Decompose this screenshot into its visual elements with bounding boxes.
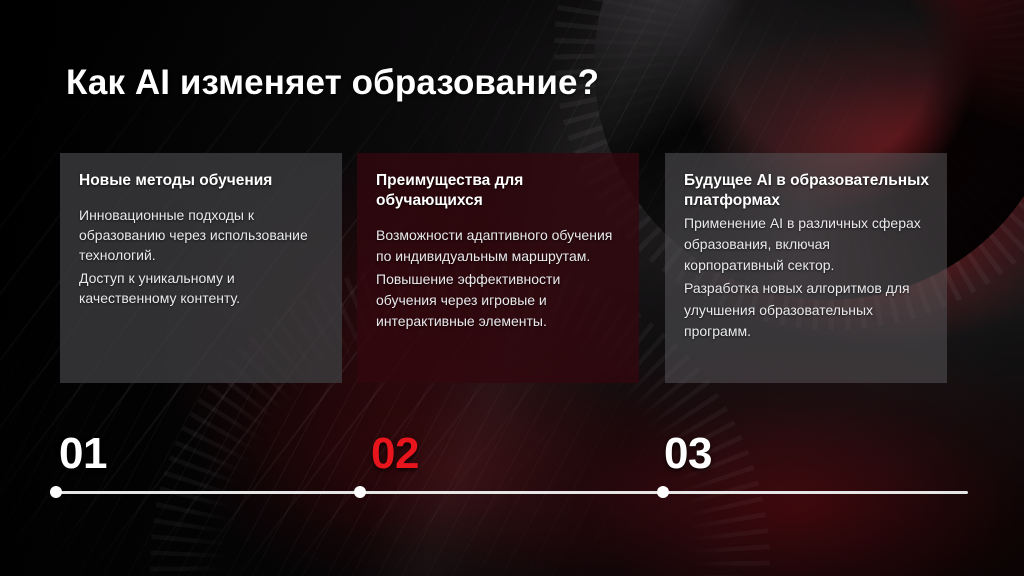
presentation-slide: Как AI изменяет образование? Новые метод… bbox=[0, 0, 1024, 576]
timeline-step-number-03: 03 bbox=[664, 432, 712, 476]
timeline-step-number-01: 01 bbox=[59, 432, 107, 476]
step-timeline: 01 02 03 bbox=[0, 0, 1024, 576]
timeline-step-number-02: 02 bbox=[371, 432, 419, 476]
timeline-dot-01 bbox=[50, 486, 62, 498]
timeline-line bbox=[55, 491, 968, 494]
timeline-dot-03 bbox=[657, 486, 669, 498]
timeline-dot-02 bbox=[354, 486, 366, 498]
